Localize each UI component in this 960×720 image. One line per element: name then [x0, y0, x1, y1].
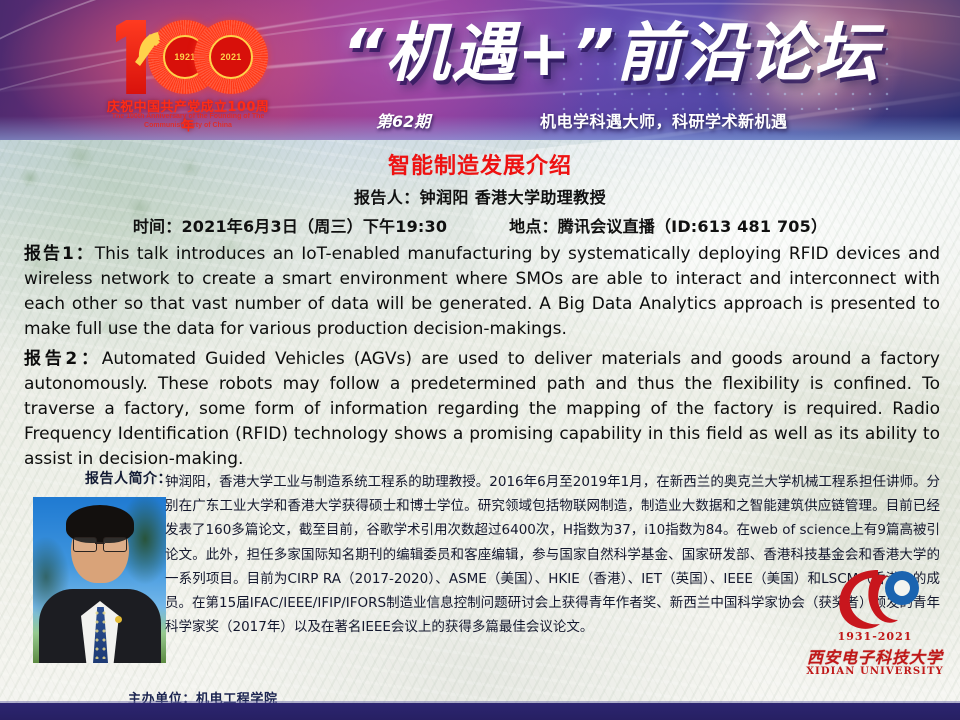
emblem-digit-zero-right: 2021 [194, 20, 268, 94]
header-banner: 1921 2021 庆祝中国共产党成立100周年 The 100th Anniv… [0, 0, 960, 140]
speaker-photo [33, 497, 166, 663]
forum-subtitle: 机电学科遇大师，科研学术新机遇 [540, 108, 788, 132]
footer-bar [0, 703, 960, 720]
talk-title: 智能制造发展介绍 [0, 148, 960, 180]
xidian-90-anniversary-icon [828, 568, 924, 634]
cpc-100-anniversary-emblem: 1921 2021 庆祝中国共产党成立100周年 The 100th Anniv… [104, 12, 272, 132]
glasses-icon [73, 537, 127, 550]
xidian-university-logo: 1931-2021 西安电子科技大学 XIDIAN UNIVERSITY [800, 604, 950, 690]
poster-root: 1921 2021 庆祝中国共产党成立100周年 The 100th Anniv… [0, 0, 960, 720]
abstract-1: 报告1：This talk introduces an IoT-enabled … [24, 242, 940, 342]
bio-label: 报告人简介： [85, 468, 172, 488]
abstract-1-tag: 报告1： [24, 244, 95, 264]
photo-tie-pattern [93, 609, 108, 659]
speaker-line: 报告人：钟润阳 香港大学助理教授 [0, 184, 960, 208]
emblem-en-caption: The 100th Anniversary of the Founding of… [104, 112, 272, 131]
emblem-digits: 1921 2021 [112, 16, 264, 94]
logo-en-name: XIDIAN UNIVERSITY [800, 666, 950, 677]
talk-time: 时间：2021年6月3日（周三）下午19:30 [133, 213, 447, 237]
time-place-row: 时间：2021年6月3日（周三）下午19:30 地点：腾讯会议直播（ID:613… [0, 213, 960, 237]
abstract-1-text: This talk introduces an IoT-enabled manu… [24, 244, 940, 339]
hammer-sickle-icon [130, 28, 164, 68]
talk-place: 地点：腾讯会议直播（ID:613 481 705） [509, 213, 827, 237]
abstract-2: 报告2：Automated Guided Vehicles (AGVs) are… [24, 347, 940, 472]
abstract-2-tag: 报告2： [24, 349, 102, 369]
issue-number: 第62期 [376, 108, 430, 132]
logo-cn-name: 西安电子科技大学 [800, 644, 950, 668]
photo-lapel-pin [115, 616, 122, 623]
logo-years: 1931-2021 [800, 630, 950, 643]
forum-title: “机遇+”前沿论坛 [342, 8, 942, 100]
abstract-2-text: Automated Guided Vehicles (AGVs) are use… [24, 349, 940, 469]
emblem-year-right: 2021 [209, 35, 253, 79]
